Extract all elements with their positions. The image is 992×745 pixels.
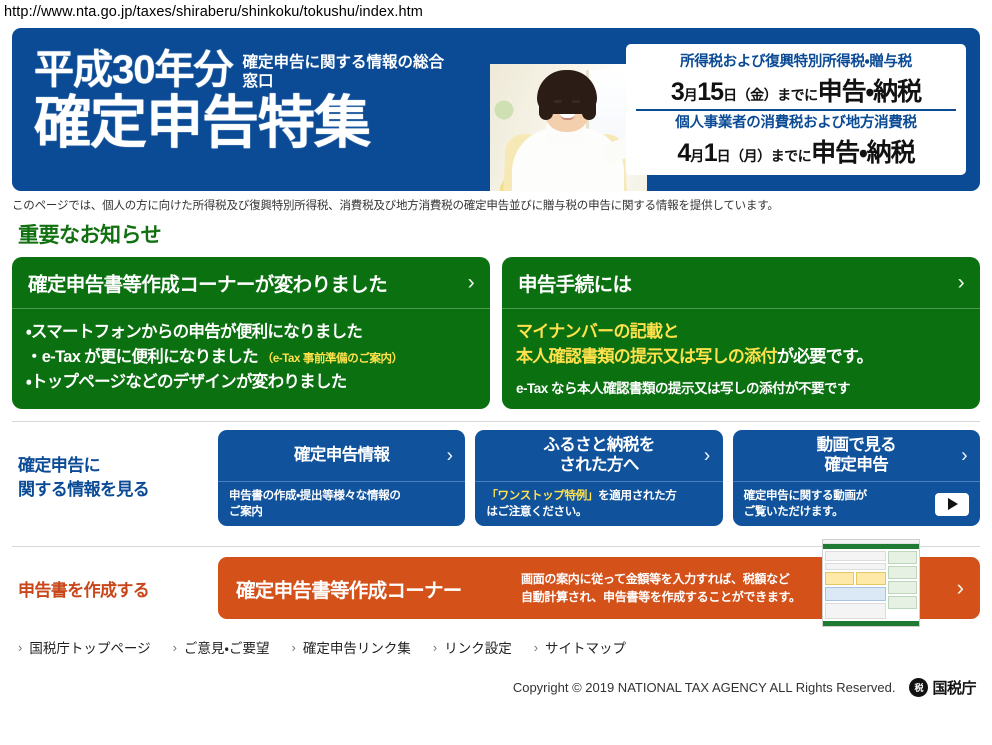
create-section: 申告書を作成する 確定申告書等作成コーナー 画面の案内に従って金額等を入力すれば… (12, 547, 980, 629)
photo-eye-left (554, 100, 562, 103)
footer-link-label: 国税庁トップページ (29, 637, 150, 657)
create-bar-title: 確定申告書等作成コーナー (236, 574, 521, 603)
chevron-right-icon: › (433, 640, 437, 655)
thumb-block (856, 572, 885, 585)
tile-title: ふるさと納税を された方へ (543, 436, 654, 476)
list-item: ・e-Tax が更に便利になりました （e-Tax 事前準備のご案内） (26, 345, 476, 370)
footer-link-sitemap[interactable]: › サイトマップ (534, 637, 626, 657)
highlight-line-1: マイナンバーの記載と (516, 320, 966, 345)
notice-card-sakusei-corner[interactable]: 確定申告書等作成コーナーが変わりました › ・スマートフォンからの申告が便利にな… (12, 257, 490, 409)
hero-banner[interactable]: 平成30年分 確定申告に関する情報の総合窓口 確定申告特集 所得税および復興特別… (12, 28, 980, 191)
photo-hair-right (582, 90, 596, 120)
info-label-line-1: 確定申告に (18, 454, 208, 478)
deadline-caption: 個人事業者の消費税および地方消費税 (636, 111, 956, 132)
notice-card-shinkoku-tetsuzuki[interactable]: 申告手続には › マイナンバーの記載と 本人確認書類の提示又は写しの添付が必要で… (502, 257, 980, 409)
thumb-site-footer (823, 621, 919, 627)
create-section-label: 申告書を作成する (12, 576, 208, 601)
thumb-block (888, 581, 917, 594)
chevron-right-icon: › (961, 446, 967, 465)
tile-description: 確定申告に関する動画が ご覧いただけます。 (744, 488, 867, 521)
list-item: ・トップページなどのデザインが変わりました (26, 370, 476, 395)
highlight-emphasis: 本人確認書類の提示又は写しの添付 (516, 347, 777, 366)
footer-link-label: 確定申告リンク集 (303, 637, 411, 657)
tile-header[interactable]: ふるさと納税を された方へ › (475, 430, 722, 482)
photo-hair-left (539, 90, 553, 120)
thumb-block (825, 563, 886, 570)
chevron-right-icon: › (292, 640, 296, 655)
chevron-right-icon: › (18, 640, 22, 655)
deadline-month-unit: 月 (690, 148, 704, 164)
list-item-note: （e-Tax 事前準備のご案内） (262, 353, 403, 365)
tile-body: 申告書の作成・提出等様々な情報の ご案内 (218, 482, 465, 526)
sakusei-corner-button[interactable]: 確定申告書等作成コーナー 画面の案内に従って金額等を入力すれば、税額など 自動計… (218, 557, 980, 619)
list-item: ・スマートフォンからの申告が便利になりました (26, 320, 476, 345)
copyright-text: Copyright © 2019 NATIONAL TAX AGENCY ALL… (513, 680, 896, 695)
list-item-text: ・トップページなどのデザインが変わりました (26, 373, 347, 391)
footer-link-row: › 国税庁トップページ › ご意見・ご要望 › 確定申告リンク集 › リンク設定… (12, 629, 980, 665)
create-desc-line-1: 画面の案内に従って金額等を入力すれば、税額など (521, 570, 801, 588)
footer-link-label: ご意見・ご要望 (184, 637, 270, 657)
tile-header[interactable]: 動画で見る 確定申告 › (733, 430, 980, 482)
tile-body: 確定申告に関する動画が ご覧いただけます。 (733, 482, 980, 526)
photo-eye-right (572, 100, 580, 103)
tile-description: 申告書の作成・提出等様々な情報の ご案内 (229, 488, 401, 521)
deadline-panel: 所得税および復興特別所得税・贈与税 3月15日（金）までに申告・納税 個人事業者… (626, 44, 966, 175)
play-triangle (948, 498, 958, 510)
tile-header[interactable]: 確定申告情報 › (218, 430, 465, 482)
deadline-action: 申告・納税 (818, 78, 922, 106)
chevron-right-icon: › (704, 446, 710, 465)
tile-title: 動画で見る 確定申告 (817, 436, 897, 476)
site-thumbnail-preview (822, 539, 920, 627)
tile-desc-line-2: はご注意ください。 (486, 504, 676, 520)
hero-title: 確定申告特集 (34, 94, 482, 152)
deadline-caption: 所得税および復興特別所得税・贈与税 (636, 50, 956, 71)
nta-seal-icon: 税 (909, 678, 928, 697)
tile-body: 「ワンストップ特例」を適用された方 はご注意ください。 (475, 482, 722, 526)
deadline-day-unit: 日（金） (723, 87, 777, 103)
list-item-text: ・e-Tax が更に便利になりました (26, 348, 258, 366)
browser-url-bar[interactable]: http://www.nta.go.jp/taxes/shiraberu/shi… (0, 0, 992, 26)
deadline-month-unit: 月 (684, 87, 698, 103)
thumb-block (888, 551, 917, 564)
deadline-tail: までに (777, 87, 818, 103)
photo-plant (492, 98, 516, 122)
tile-desc-line-2: ご案内 (229, 504, 401, 520)
chevron-right-icon: › (468, 272, 474, 293)
footer-link-label: サイトマップ (545, 637, 626, 657)
photo-bangs (546, 78, 588, 94)
copyright-row: Copyright © 2019 NATIONAL TAX AGENCY ALL… (0, 677, 976, 698)
thumb-block (888, 566, 917, 579)
tile-title-line-2: 確定申告 (825, 456, 889, 474)
nta-logo-name: 国税庁 (932, 677, 976, 698)
deadline-day-number: 1 (704, 139, 717, 167)
footer-link-linkshu[interactable]: › 確定申告リンク集 (292, 637, 411, 657)
thumb-main-column (825, 551, 886, 619)
hero-top-row: 平成30年分 確定申告に関する情報の総合窓口 (34, 50, 482, 92)
highlight-rest: が必要です。 (777, 347, 873, 366)
thumb-block (888, 596, 917, 609)
thumb-content (823, 549, 919, 621)
deadline-date-line: 3月15日（金）までに申告・納税 (636, 72, 956, 108)
notice-section-heading: 重要なお知らせ (18, 219, 980, 249)
tile-kakutei-shinkoku-joho[interactable]: 確定申告情報 › 申告書の作成・提出等様々な情報の ご案内 (218, 430, 465, 526)
thumb-block (825, 572, 854, 585)
tile-desc-line-1: 「ワンストップ特例」を適用された方 (486, 488, 676, 504)
tile-title-line-1: ふるさと納税を (543, 436, 654, 454)
notice-card-title: 申告手続には (518, 268, 631, 297)
notice-card-title: 確定申告書等作成コーナーが変わりました (28, 268, 387, 297)
notice-card-header[interactable]: 確定申告書等作成コーナーが変わりました › (12, 257, 490, 309)
thumb-block (825, 603, 886, 619)
deadline-block-income-tax: 所得税および復興特別所得税・贈与税 3月15日（金）までに申告・納税 (636, 50, 956, 109)
tile-desc-rest: を適用された方 (598, 490, 676, 502)
deadline-month-number: 3 (671, 78, 684, 106)
notice-card-body: マイナンバーの記載と 本人確認書類の提示又は写しの添付が必要です。 e-Tax … (502, 309, 980, 409)
tile-douga-de-miru[interactable]: 動画で見る 確定申告 › 確定申告に関する動画が ご覧いただけます。 (733, 430, 980, 526)
footer-link-label: リンク設定 (444, 637, 512, 657)
hero-photo-woman (490, 64, 647, 191)
tile-desc-highlight: 「ワンストップ特例」 (486, 490, 598, 502)
deadline-block-consumption-tax: 個人事業者の消費税および地方消費税 4月1日（月）までに申告・納税 (636, 111, 956, 170)
list-item-text: ・スマートフォンからの申告が便利になりました (26, 323, 362, 341)
page-lead-text: このページでは、個人の方に向けた所得税及び復興特別所得税、消費税及び地方消費税の… (12, 197, 980, 213)
thumb-block (825, 551, 886, 561)
hero-left-block: 平成30年分 確定申告に関する情報の総合窓口 確定申告特集 (12, 28, 482, 191)
deadline-date-line: 4月1日（月）までに申告・納税 (636, 133, 956, 169)
footer-link-link-settings[interactable]: › リンク設定 (433, 637, 512, 657)
deadline-day-number: 15 (697, 78, 723, 106)
deadline-tail: までに (771, 148, 812, 164)
tile-desc-line-1: 確定申告に関する動画が (744, 488, 867, 504)
tile-desc-line-1: 申告書の作成・提出等様々な情報の (229, 488, 401, 504)
info-section-label: 確定申告に 関する情報を見る (12, 454, 208, 502)
info-section: 確定申告に 関する情報を見る 確定申告情報 › 申告書の作成・提出等様々な情報の… (12, 422, 980, 534)
tile-title-line-2: された方へ (559, 456, 639, 474)
deadline-action: 申告・納税 (811, 139, 915, 167)
hero-subtitle: 確定申告に関する情報の総合窓口 (243, 50, 458, 92)
deadline-month-number: 4 (677, 139, 690, 167)
highlight-line-2: 本人確認書類の提示又は写しの添付が必要です。 (516, 345, 966, 370)
info-label-line-2: 関する情報を見る (18, 478, 208, 502)
chevron-right-icon: › (957, 577, 964, 599)
url-text: http://www.nta.go.jp/taxes/shiraberu/shi… (4, 4, 423, 20)
chevron-right-icon: › (173, 640, 177, 655)
footer-link-feedback[interactable]: › ご意見・ご要望 (173, 637, 270, 657)
tile-title-line-1: 動画で見る (817, 436, 897, 454)
hero-year-label: 平成30年分 (34, 50, 233, 90)
chevron-right-icon: › (534, 640, 538, 655)
nta-logo: 税 国税庁 (909, 677, 976, 698)
create-bar-description: 画面の案内に従って金額等を入力すれば、税額など 自動計算され、申告書等を作成する… (521, 570, 801, 606)
tile-title: 確定申告情報 (294, 446, 389, 466)
notice-card-body: ・スマートフォンからの申告が便利になりました ・e-Tax が更に便利になりまし… (12, 309, 490, 407)
notice-card-row: 確定申告書等作成コーナーが変わりました › ・スマートフォンからの申告が便利にな… (12, 257, 980, 409)
notice-card-note: e-Tax なら本人確認書類の提示又は写しの添付が不要です (516, 377, 966, 397)
chevron-right-icon: › (447, 446, 453, 465)
thumb-side-column (888, 551, 917, 619)
footer-link-top-page[interactable]: › 国税庁トップページ (18, 637, 151, 657)
create-desc-line-2: 自動計算され、申告書等を作成することができます。 (521, 588, 801, 606)
thumb-row (825, 572, 886, 585)
play-icon[interactable] (935, 493, 969, 516)
thumb-block (825, 587, 886, 601)
tile-description: 「ワンストップ特例」を適用された方 はご注意ください。 (486, 488, 676, 521)
deadline-day-unit: 日（月） (717, 148, 771, 164)
chevron-right-icon: › (958, 272, 964, 293)
notice-card-header[interactable]: 申告手続には › (502, 257, 980, 309)
tile-furusato-nozei[interactable]: ふるさと納税を された方へ › 「ワンストップ特例」を適用された方 はご注意くだ… (475, 430, 722, 526)
tile-desc-line-2: ご覧いただけます。 (744, 504, 867, 520)
